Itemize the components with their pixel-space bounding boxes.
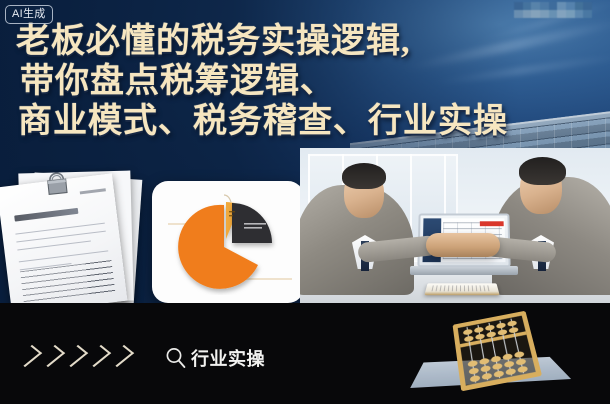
tax-documents-stack <box>0 170 144 305</box>
chevron-right-icon <box>84 345 111 367</box>
pie-chart-svg <box>174 191 286 295</box>
ai-generated-badge: AI生成 <box>5 5 53 24</box>
censor-tile <box>514 10 523 18</box>
censor-tile <box>549 10 558 18</box>
document-heading-line <box>14 208 78 222</box>
censor-tile <box>557 10 566 18</box>
handshake-hands <box>426 233 500 257</box>
notebook <box>424 283 499 295</box>
pixelated-watermark-block <box>514 2 592 18</box>
handshake-photo <box>300 148 610 305</box>
censor-tile <box>566 2 575 10</box>
censor-tile <box>583 2 592 10</box>
censor-tile <box>583 10 592 18</box>
laptop-alert-bar <box>480 221 504 226</box>
censor-tile <box>549 2 558 10</box>
document-stamp-line <box>80 188 106 194</box>
title-line-2: 带你盘点税筹逻辑、 <box>16 62 576 102</box>
page-title: 老板必懂的税务实操逻辑, 带你盘点税筹逻辑、 商业模式、税务稽查、行业实操 <box>16 22 576 142</box>
binder-clip-icon <box>41 167 74 200</box>
person-right-hair <box>519 157 566 185</box>
censor-tile <box>523 10 532 18</box>
censor-tile <box>557 2 566 10</box>
pie-chart-area <box>166 189 290 295</box>
pie-chart-card <box>152 181 304 303</box>
chevron-right-icon <box>15 345 42 367</box>
person-left-hair <box>342 163 386 189</box>
chevron-right-icon <box>61 345 88 367</box>
footer-tag-label: 行业实操 <box>191 345 265 371</box>
poster-canvas: AI生成 老板必懂的税务实操逻辑, 带你盘点税筹逻辑、 商业模式、税务稽查、行业… <box>0 0 610 404</box>
censor-tile <box>531 10 540 18</box>
censor-tile <box>540 10 549 18</box>
document-text-line <box>19 250 108 262</box>
chevron-arrow-group <box>22 345 127 367</box>
censor-tile <box>540 2 549 10</box>
laptop-base <box>410 266 518 275</box>
chevron-right-icon <box>38 345 65 367</box>
title-line-3: 商业模式、税务稽查、行业实操 <box>16 102 576 142</box>
title-line-1: 老板必懂的税务实操逻辑, <box>16 22 576 62</box>
abacus-photo <box>420 311 570 401</box>
censor-tile <box>575 2 584 10</box>
document-text-line <box>17 240 91 250</box>
censor-tile <box>514 2 523 10</box>
censor-tile <box>566 10 575 18</box>
magnifier-icon[interactable] <box>164 346 188 370</box>
chevron-right-icon <box>107 345 134 367</box>
censor-tile <box>531 2 540 10</box>
censor-tile <box>575 10 584 18</box>
censor-tile <box>523 2 532 10</box>
footer-bar: 行业实操 <box>0 303 610 404</box>
visual-collage-band <box>0 148 610 305</box>
footer-tag[interactable]: 行业实操 <box>164 345 265 371</box>
